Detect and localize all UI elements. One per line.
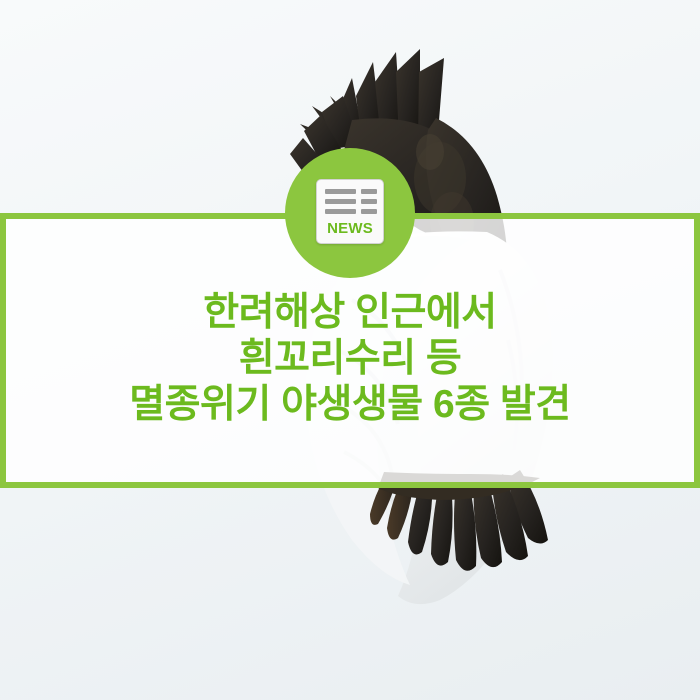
headline-line-3: 멸종위기 야생생물 6종 발견 [0,382,700,428]
news-badge-label: NEWS [317,220,383,237]
headline-line-1: 한려해상 인근에서 [0,290,700,336]
news-badge: NEWS [285,148,415,278]
headline-line-2: 흰꼬리수리 등 [0,336,700,382]
news-icon-bar [361,199,377,204]
news-icon-bar [325,189,356,194]
news-icon-bar [325,199,356,204]
news-icon-line-row [325,209,377,214]
news-article-icon: NEWS [316,179,384,244]
news-icon-bar [361,189,377,194]
news-icon-bar [325,209,356,214]
news-icon-lines [325,189,377,219]
news-thumbnail-card: 한려해상 인근에서 흰꼬리수리 등 멸종위기 야생생물 6종 발견 NEW [0,0,700,700]
news-icon-bar [361,209,377,214]
news-icon-line-row [325,199,377,204]
news-icon-line-row [325,189,377,194]
